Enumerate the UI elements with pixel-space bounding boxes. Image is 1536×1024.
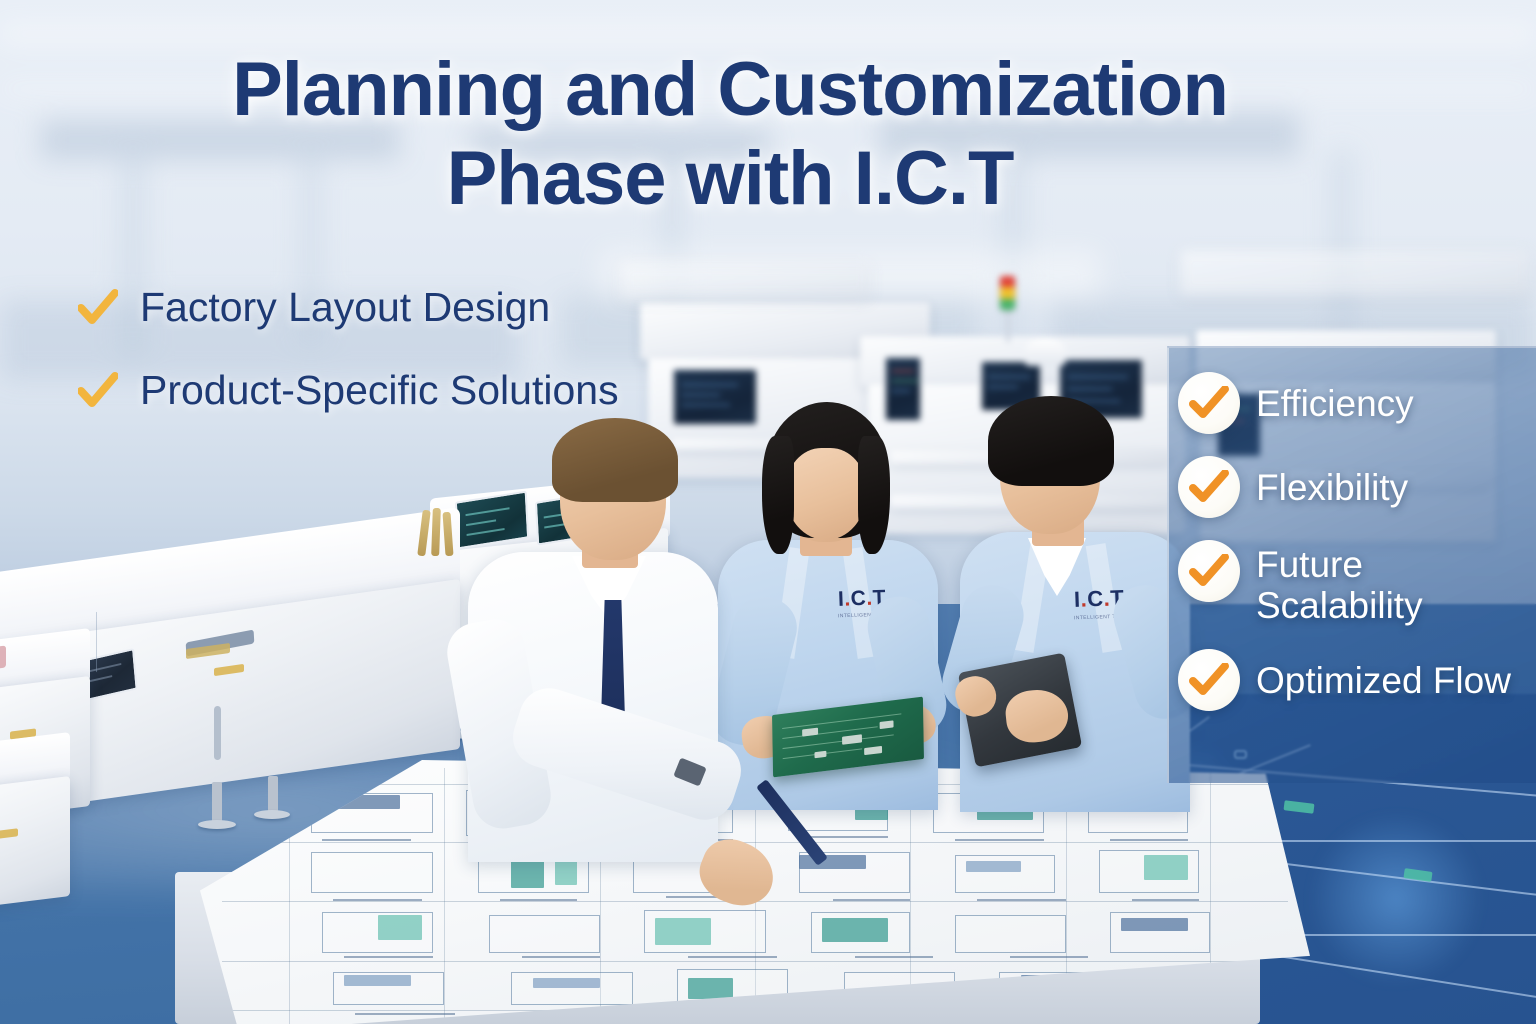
check-circle-icon: [1178, 649, 1240, 711]
benefit-label: Flexibility: [1256, 456, 1408, 508]
benefit-item: Flexibility: [1178, 456, 1536, 518]
title-line-1: Planning and Customization: [0, 46, 1460, 135]
benefit-label: Efficiency: [1256, 372, 1414, 424]
benefit-label: Optimized Flow: [1256, 649, 1511, 701]
banner-image: I.C.T INTELLIGENT TECHNOLOGY I.C.T INTEL…: [0, 0, 1536, 1024]
benefit-item: Future Scalability: [1178, 540, 1536, 627]
title-line-2: Phase with I.C.T: [0, 135, 1460, 224]
page-title: Planning and Customization Phase with I.…: [0, 46, 1460, 224]
benefit-label: Future Scalability: [1256, 540, 1456, 627]
left-feature-label: Factory Layout Design: [140, 286, 550, 329]
signal-tower-light-icon: [1000, 276, 1015, 310]
left-feature-item: Product-Specific Solutions: [78, 369, 718, 412]
left-feature-item: Factory Layout Design: [78, 286, 718, 329]
check-circle-icon: [1178, 456, 1240, 518]
left-feature-label: Product-Specific Solutions: [140, 369, 619, 412]
check-circle-icon: [1178, 372, 1240, 434]
check-icon: [78, 372, 118, 410]
left-feature-list: Factory Layout Design Product-Specific S…: [78, 286, 718, 452]
check-circle-icon: [1178, 540, 1240, 602]
right-benefits-list: Efficiency Flexibility Future Scalabilit…: [1178, 372, 1536, 733]
benefit-item: Efficiency: [1178, 372, 1536, 434]
benefit-item: Optimized Flow: [1178, 649, 1536, 711]
check-icon: [78, 289, 118, 327]
